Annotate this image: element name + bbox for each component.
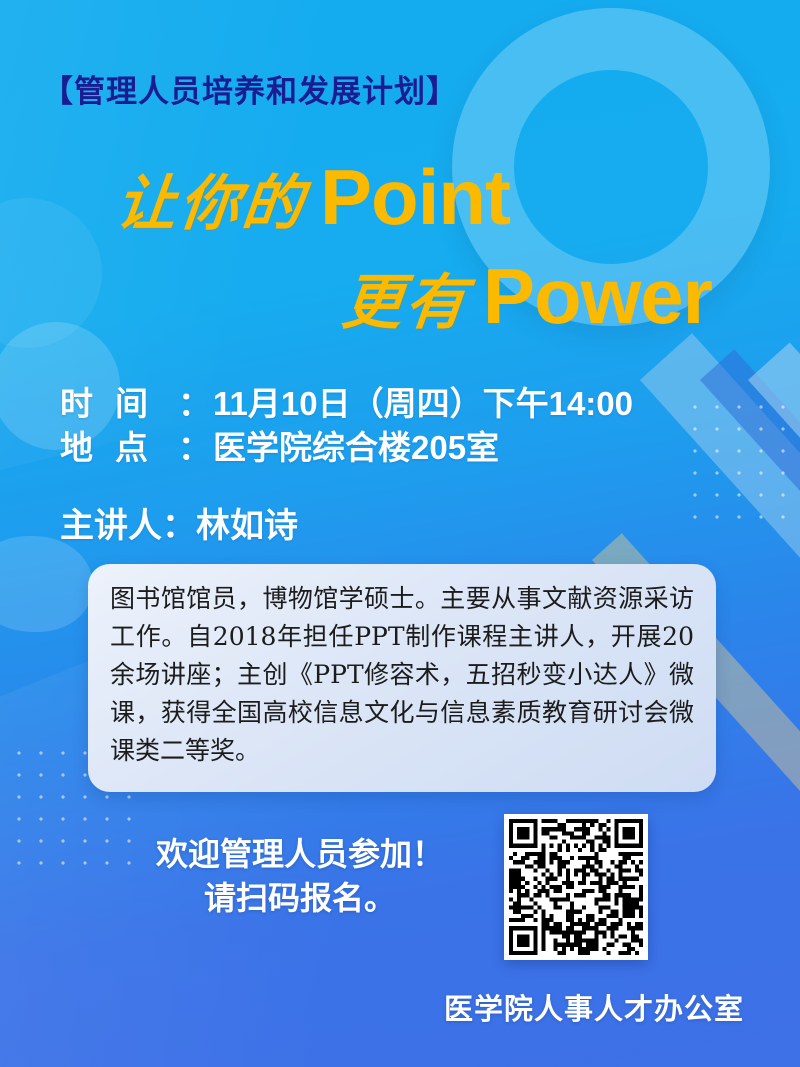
- poster-root: 【管理人员培养和发展计划】 让你的 Point 更有 Power 时间 ： 11…: [0, 0, 800, 1067]
- cta-line-2: 请扫码报名。: [120, 876, 480, 920]
- time-separator: ：: [178, 382, 211, 426]
- speaker-name: 林如诗: [196, 507, 298, 545]
- speaker-bio-panel: 图书馆馆员，博物馆学硕士。主要从事文献资源采访工作。自2018年担任PPT制作课…: [88, 564, 716, 792]
- dot-grid-right: [684, 396, 800, 526]
- call-to-action: 欢迎管理人员参加！ 请扫码报名。: [120, 832, 480, 920]
- cta-line-1: 欢迎管理人员参加！: [120, 832, 480, 876]
- event-detail-time: 时间 ： 11月10日（周四）下午14:00: [60, 382, 633, 426]
- blob-decoration-lower-left: [0, 536, 92, 632]
- speaker-line: 主讲人：林如诗: [60, 498, 298, 547]
- title-line-2: 更有 Power: [0, 251, 760, 342]
- title-cn-1: 让你的: [112, 155, 310, 242]
- title-cn-2: 更有: [338, 254, 473, 341]
- speaker-bio-text: 图书馆馆员，博物馆学硕士。主要从事文献资源采访工作。自2018年担任PPT制作课…: [110, 580, 694, 770]
- organizer-footer: 医学院人事人才办公室: [444, 986, 744, 1028]
- program-tag: 【管理人员培养和发展计划】: [42, 66, 458, 111]
- location-label: 地点: [60, 426, 178, 470]
- location-value: 医学院综合楼205室: [213, 426, 499, 470]
- qr-code-image: [509, 819, 643, 955]
- event-details: 时间 ： 11月10日（周四）下午14:00 地点 ： 医学院综合楼205室: [60, 382, 633, 470]
- poster-title: 让你的 Point 更有 Power: [0, 152, 760, 342]
- event-detail-location: 地点 ： 医学院综合楼205室: [60, 426, 633, 470]
- title-line-1: 让你的 Point: [0, 152, 760, 243]
- speaker-label: 主讲人：: [60, 507, 196, 545]
- time-value: 11月10日（周四）下午14:00: [213, 382, 633, 426]
- title-en-point: Point: [320, 152, 510, 243]
- location-separator: ：: [178, 426, 211, 470]
- title-en-power: Power: [483, 251, 712, 342]
- qr-code[interactable]: [504, 814, 648, 960]
- time-label: 时间: [60, 382, 178, 426]
